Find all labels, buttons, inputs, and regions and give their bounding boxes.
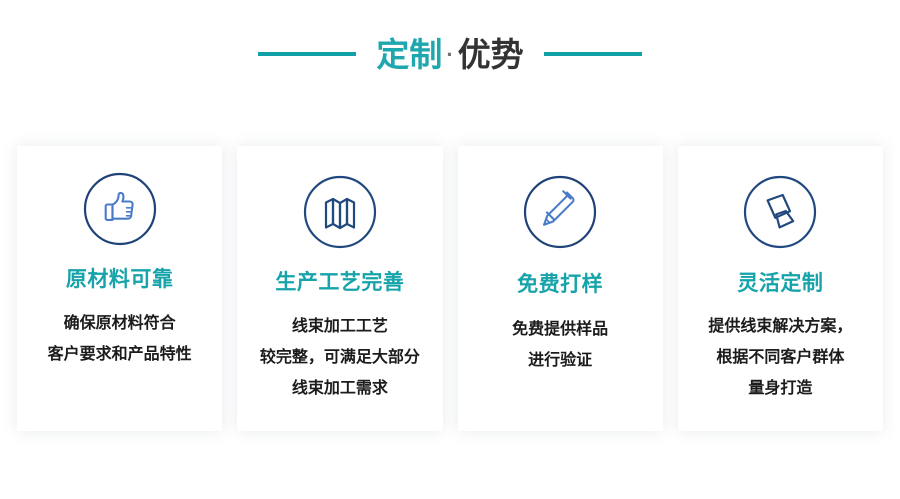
card-body-line: 线束加工需求	[245, 373, 435, 404]
card-body: 线束加工工艺 较完整，可满足大部分 线束加工需求	[245, 311, 435, 404]
advantages-card-row: 原材料可靠 确保原材料符合 客户要求和产品特性 生产工艺完善 线束加工工艺 较完…	[17, 146, 883, 431]
page-title-main: 优势	[458, 36, 524, 73]
card-body-line: 客户要求和产品特性	[25, 339, 215, 370]
card-body-line: 量身打造	[685, 373, 875, 404]
card-title: 免费打样	[517, 273, 603, 296]
card-body: 提供线束解决方案， 根据不同客户群体 量身打造	[685, 311, 875, 404]
card-body-line: 进行验证	[465, 345, 655, 376]
advantage-card-flexible-custom[interactable]: 灵活定制 提供线束解决方案， 根据不同客户群体 量身打造	[678, 146, 883, 431]
pencil-icon	[520, 172, 600, 252]
stacked-cards-icon	[740, 172, 820, 252]
card-title: 原材料可靠	[66, 268, 174, 291]
advantage-card-material[interactable]: 原材料可靠 确保原材料符合 客户要求和产品特性	[17, 146, 222, 431]
card-body: 确保原材料符合 客户要求和产品特性	[25, 308, 215, 370]
page-title-separator: ·	[442, 42, 457, 67]
card-body-line: 根据不同客户群体	[685, 342, 875, 373]
advantage-card-free-sample[interactable]: 免费打样 免费提供样品 进行验证	[458, 146, 663, 431]
advantage-card-process[interactable]: 生产工艺完善 线束加工工艺 较完整，可满足大部分 线束加工需求	[237, 146, 442, 431]
card-title: 生产工艺完善	[275, 271, 404, 294]
card-body-line: 提供线束解决方案，	[685, 311, 875, 342]
folded-map-icon	[300, 172, 380, 252]
card-body-line: 确保原材料符合	[25, 308, 215, 339]
card-body-line: 免费提供样品	[465, 314, 655, 345]
card-body-line: 线束加工工艺	[245, 311, 435, 342]
title-rule-right	[544, 52, 642, 56]
page-title: 定制·优势	[376, 38, 523, 71]
thumbs-up-icon	[80, 169, 160, 249]
title-rule-left	[258, 52, 356, 56]
card-body: 免费提供样品 进行验证	[465, 314, 655, 376]
page-title-accent: 定制	[376, 36, 442, 73]
card-body-line: 较完整，可满足大部分	[245, 342, 435, 373]
section-header: 定制·优势	[0, 28, 900, 80]
card-title: 灵活定制	[737, 272, 823, 295]
